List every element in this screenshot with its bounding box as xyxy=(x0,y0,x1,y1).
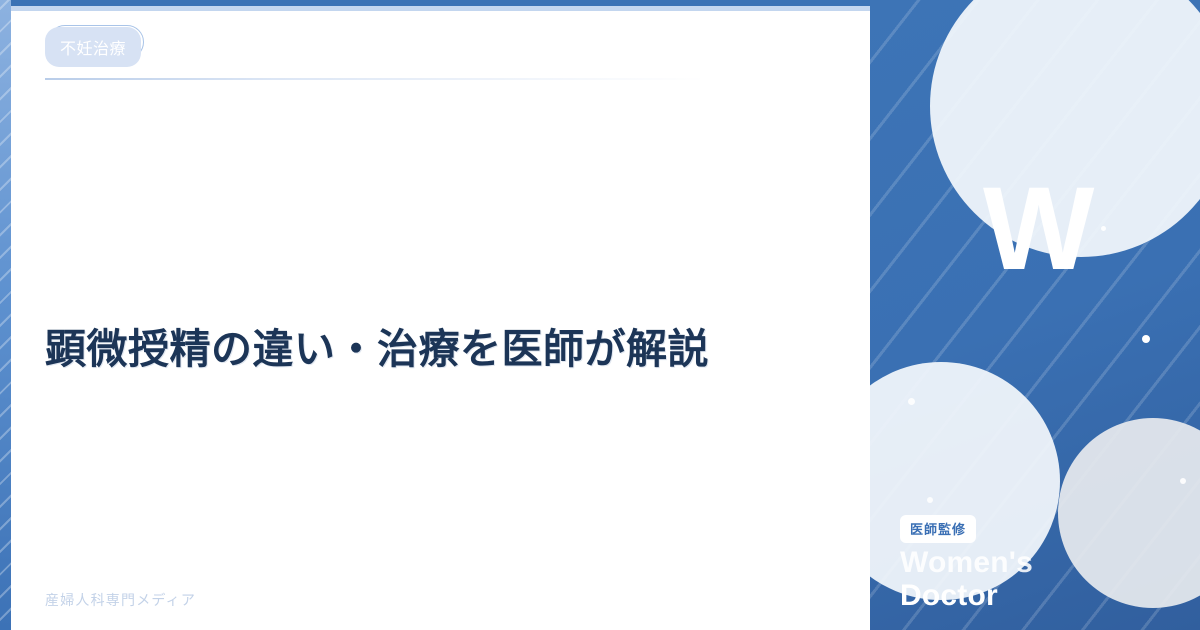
left-accent-strip xyxy=(0,0,11,630)
brand-monogram-w: W xyxy=(983,170,1092,288)
article-headline: 顕微授精の違い・治療を医師が解説 xyxy=(45,322,835,377)
decorative-dot xyxy=(1142,335,1150,343)
brand-lockup: 医師監修 Women's Doctor xyxy=(900,515,1033,612)
header-divider xyxy=(45,78,705,80)
decorative-dot xyxy=(1180,478,1186,484)
decorative-dot xyxy=(908,398,915,405)
category-badge[interactable]: 不妊治療 xyxy=(45,27,141,67)
og-image-canvas: 不妊治療 顕微授精の違い・治療を医師が解説 産婦人科専門メディア W 医師監修 … xyxy=(0,0,1200,630)
brand-panel: W 医師監修 Women's Doctor xyxy=(870,0,1200,630)
decorative-dot xyxy=(927,497,933,503)
brand-name-line-2: Doctor xyxy=(900,580,1033,612)
decorative-dot xyxy=(1101,226,1106,231)
supervised-by-doctor-badge: 医師監修 xyxy=(900,515,976,543)
top-accent-bar-light xyxy=(11,6,870,11)
brand-name-line-1: Women's xyxy=(900,547,1033,579)
site-tagline: 産婦人科専門メディア xyxy=(45,590,196,610)
category-badge-wrapper: 不妊治療 xyxy=(45,27,141,67)
decorative-circle-bottom-right xyxy=(1058,418,1200,608)
article-content-card xyxy=(11,11,870,630)
